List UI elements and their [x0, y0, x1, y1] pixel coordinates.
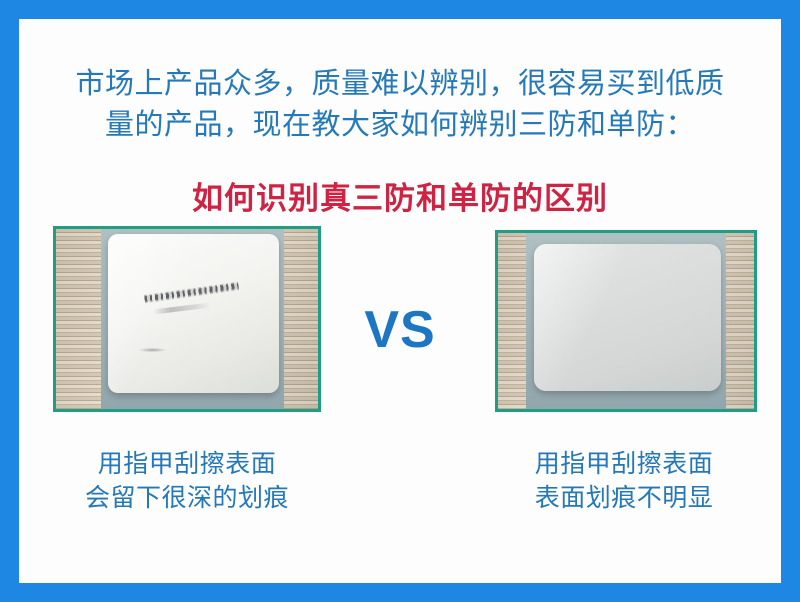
photo-right-clean-panel: [495, 230, 757, 412]
photo-left-panel-sheen: [108, 234, 278, 392]
vs-separator-label: VS: [340, 300, 460, 360]
poster-root: 市场上产品众多，质量难以辨别，很容易买到低质量的产品，现在教大家如何辨别三防和单…: [0, 0, 800, 602]
content-card: 市场上产品众多，质量难以辨别，很容易买到低质量的产品，现在教大家如何辨别三防和单…: [19, 19, 781, 583]
caption-left-line-1: 用指甲刮擦表面: [37, 448, 337, 482]
caption-left-line-2: 会留下很深的划痕: [37, 482, 337, 516]
photo-left-scratched-panel: [53, 226, 321, 412]
caption-left: 用指甲刮擦表面 会留下很深的划痕: [37, 448, 337, 516]
surface-scuff-mark: [139, 348, 166, 352]
caption-right-line-1: 用指甲刮擦表面: [474, 448, 774, 482]
photo-left-panel: [108, 234, 278, 392]
caption-right: 用指甲刮擦表面 表面划痕不明显: [474, 448, 774, 516]
photo-right-panel: [534, 244, 721, 392]
page-title: 如何识别真三防和单防的区别: [19, 173, 781, 218]
caption-right-line-2: 表面划痕不明显: [474, 482, 774, 516]
intro-paragraph: 市场上产品众多，质量难以辨别，很容易买到低质量的产品，现在教大家如何辨别三防和单…: [67, 64, 733, 146]
photo-right-panel-sheen: [534, 244, 721, 392]
